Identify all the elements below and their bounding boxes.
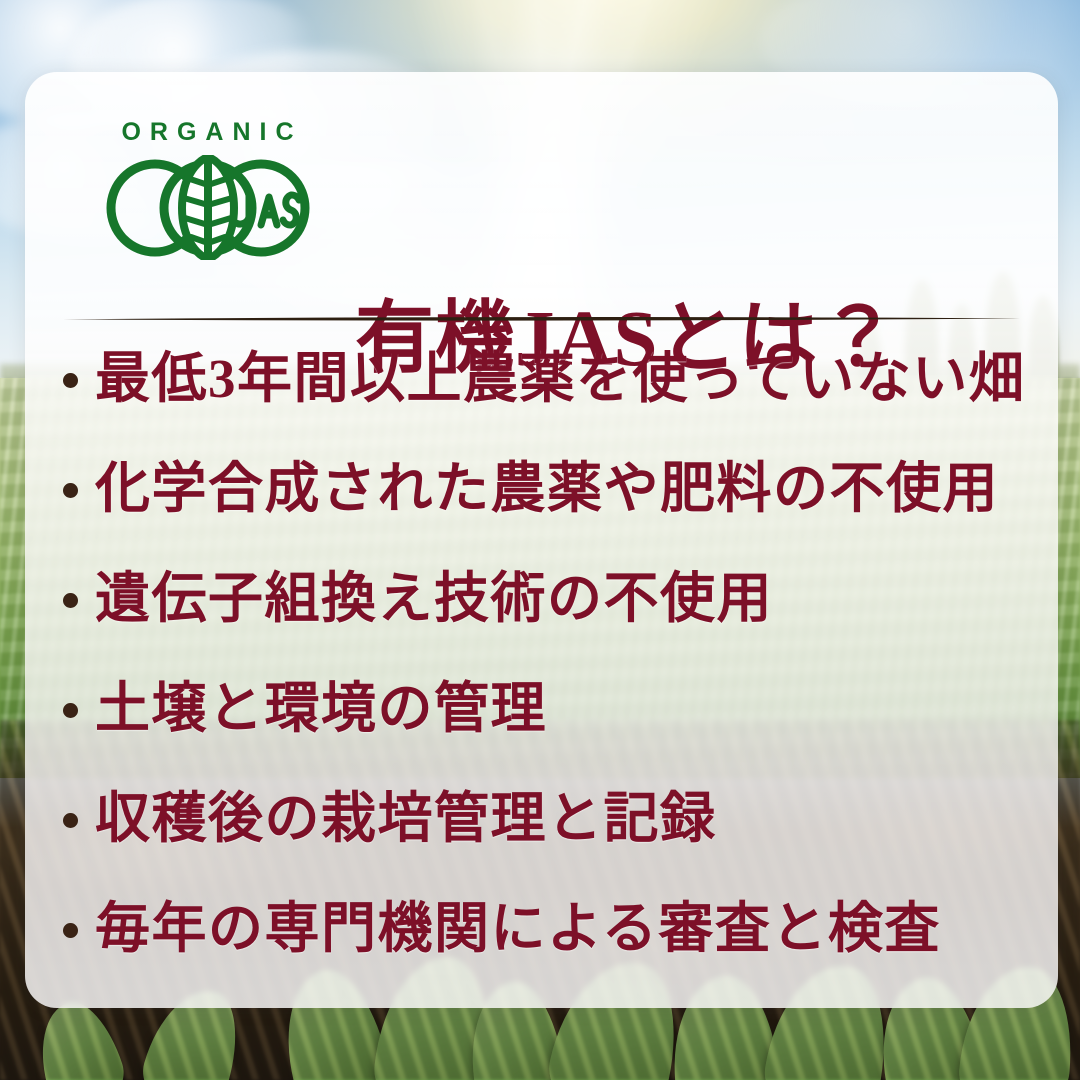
poster-canvas: ORGANIC [0,0,1080,1080]
content-card: ORGANIC [25,72,1058,1008]
list-item-label: 毎年の専門機関による審査と検査 [95,900,941,958]
jas-organic-seal-icon [93,155,323,260]
bullet-icon [63,923,78,938]
card-header: ORGANIC [25,72,1058,322]
list-item: 毎年の専門機関による審査と検査 [25,874,1058,984]
organic-wordmark: ORGANIC [91,120,333,145]
jas-logo-block: ORGANIC [83,120,333,265]
bullet-icon [63,593,78,608]
bullet-icon [63,813,78,828]
bullet-icon [63,483,78,498]
list-item-label: 遺伝子組換え技術の不使用 [95,570,773,628]
list-item-label: 収穫後の栽培管理と記録 [95,790,717,848]
list-item: 化学合成された農薬や肥料の不使用 [25,434,1058,544]
requirements-list: 最低3年間以上農薬を使っていない畑 化学合成された農薬や肥料の不使用 遺伝子組換… [25,324,1058,984]
divider [63,315,1020,322]
list-item-label: 土壌と環境の管理 [95,680,547,738]
list-item-label: 化学合成された農薬や肥料の不使用 [95,460,999,518]
list-item: 収穫後の栽培管理と記録 [25,764,1058,874]
list-item-label: 最低3年間以上農薬を使っていない畑 [95,350,1025,408]
list-item: 土壌と環境の管理 [25,654,1058,764]
bullet-icon [63,703,78,718]
list-item: 最低3年間以上農薬を使っていない畑 [25,324,1058,434]
list-item: 遺伝子組換え技術の不使用 [25,544,1058,654]
bullet-icon [63,373,78,388]
